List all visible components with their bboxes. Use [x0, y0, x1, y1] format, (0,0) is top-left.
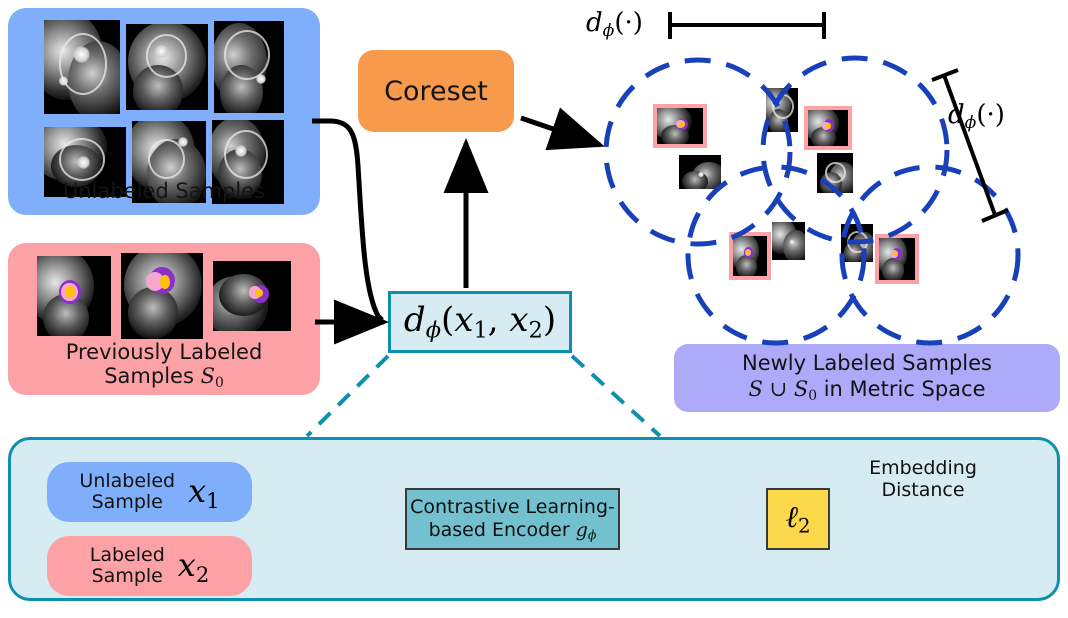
panel-newly-labeled-samples: Newly Labeled Samples S ∪ S0 in Metric S… — [674, 344, 1060, 412]
mri-thumbnail — [126, 24, 208, 110]
set-S: S — [748, 377, 762, 401]
mri-thumbnail-labeled — [121, 253, 203, 339]
union-symbol: ∪ — [763, 377, 794, 401]
chip-labeled-words: Labeled Sample — [90, 545, 165, 587]
panel-unlabeled-samples: Unlabeled Samples — [8, 8, 320, 215]
encoder-detail-panel: Unlabeled Sample x1 Labeled Sample x2 Co… — [8, 437, 1060, 601]
cluster-thumbnail-unlabeled — [841, 224, 873, 262]
diagram-canvas: Unlabeled Samples P — [0, 0, 1068, 618]
encoder-label: Contrastive Learning- based Encoder gϕ — [410, 496, 615, 542]
chip-labeled-math: x2 — [178, 546, 209, 587]
unlabeled-thumbnail-grid — [34, 20, 294, 172]
mri-thumbnail — [44, 20, 120, 114]
distance-function-node[interactable]: dϕ(x1, x2) — [388, 291, 572, 353]
encoder-node[interactable]: Contrastive Learning- based Encoder gϕ — [405, 488, 620, 550]
cluster-thumbnail-unlabeled — [772, 222, 805, 260]
l2-label: ℓ2 — [785, 500, 810, 538]
zoom-connector-lines — [307, 356, 660, 436]
coreset-label: Coreset — [384, 76, 488, 107]
cluster-circle-2 — [763, 58, 947, 242]
cluster-thumbnail-labeled — [879, 238, 915, 280]
distance-label-top: dϕ(·) — [586, 8, 643, 41]
chip-labeled-sample[interactable]: Labeled Sample x2 — [47, 536, 252, 596]
embedding-distance-label: Embedding Distance — [833, 457, 1013, 502]
cluster-thumbnail-unlabeled — [817, 153, 853, 193]
cluster-thumbnail-unlabeled — [679, 155, 721, 189]
panel-unlabeled-caption: Unlabeled Samples — [8, 180, 320, 204]
cluster-circle-1 — [606, 60, 790, 244]
cluster-thumbnail-labeled — [808, 110, 848, 146]
distance-bracket-horizontal — [670, 12, 824, 39]
chip-unlabeled-math: x1 — [188, 472, 219, 513]
set-S0: S0 — [794, 377, 817, 401]
cluster-thumbnail-labeled — [657, 108, 703, 144]
arrow-coreset-to-metric-space — [521, 118, 600, 145]
distance-label-right: dϕ(·) — [948, 100, 1005, 133]
newly-labeled-tail: in Metric Space — [817, 377, 985, 401]
newly-labeled-line1: Newly Labeled Samples — [742, 351, 992, 377]
distance-bracket-diagonal — [932, 70, 1008, 221]
mri-thumbnail — [214, 21, 284, 113]
panel-labeled-caption-math: S0 — [201, 364, 224, 388]
cluster-thumbnail-unlabeled — [766, 88, 798, 132]
newly-labeled-line2: S ∪ S0 in Metric Space — [748, 377, 985, 405]
panel-labeled-caption: Previously Labeled Samples S0 — [8, 341, 320, 391]
mri-thumbnail-labeled — [213, 261, 291, 331]
l2-norm-node[interactable]: ℓ2 — [766, 488, 830, 550]
cluster-thumbnail-labeled — [733, 236, 767, 276]
mri-thumbnail-labeled — [37, 256, 111, 336]
chip-unlabeled-words: Unlabeled Sample — [79, 471, 175, 513]
labeled-thumbnail-grid — [26, 253, 302, 339]
chip-unlabeled-sample[interactable]: Unlabeled Sample x1 — [47, 462, 252, 522]
panel-labeled-caption-line1: Previously Labeled — [66, 340, 263, 364]
panel-labeled-caption-line2-prefix: Samples — [104, 364, 200, 388]
coreset-node[interactable]: Coreset — [358, 50, 514, 132]
encoder-math-g: gϕ — [576, 519, 597, 541]
distance-function-formula: dϕ(x1, x2) — [404, 300, 556, 343]
panel-previously-labeled-samples: Previously Labeled Samples S0 — [8, 243, 320, 395]
arrow-unlabeled-to-distance — [312, 121, 382, 320]
